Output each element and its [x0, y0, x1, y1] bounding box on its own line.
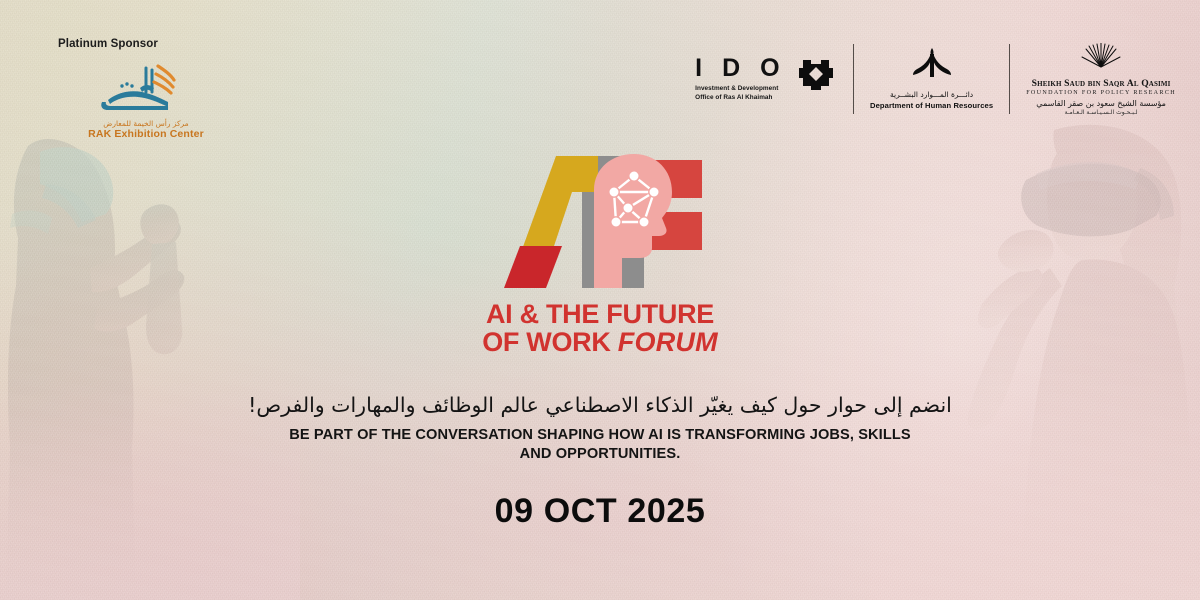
sponsor-english-name: RAK Exhibition Center — [56, 128, 236, 140]
poster-center-content: AI & THE FUTURE OF WORK FORUM انضم إلى ح… — [0, 148, 1200, 531]
tagline-arabic: انضم إلى حوار حول كيف يغيّر الذكاء الاصط… — [248, 393, 952, 417]
wordmark-forum: FORUM — [618, 327, 718, 357]
ido-wordmark: I D O — [695, 56, 786, 81]
tagline-english: BE PART OF THE CONVERSATION SHAPING HOW … — [280, 426, 920, 464]
qasimi-subtitle: FOUNDATION FOR POLICY RESEARCH — [1026, 90, 1176, 96]
starburst-icon — [1081, 43, 1121, 74]
qasimi-arabic-name: مؤسسة الشيخ سعود بن صقر القاسمي — [1036, 99, 1166, 108]
hr-english-name: Department of Human Resources — [870, 101, 993, 110]
sponsor-arabic-name: مركز رأس الخيمة للمعارض — [56, 119, 236, 128]
event-date: 09 OCT 2025 — [495, 492, 706, 531]
platinum-sponsor-label: Platinum Sponsor — [58, 38, 236, 50]
ai-future-of-work-monogram-icon — [494, 148, 706, 288]
event-poster: Platinum Sponsor — [0, 0, 1200, 600]
platinum-sponsor-block: Platinum Sponsor — [56, 38, 236, 140]
logo-divider-1 — [853, 44, 854, 114]
partner-logo-strip: I D O Investment & Development Office of… — [695, 40, 1176, 118]
logo-divider-2 — [1009, 44, 1010, 114]
qasimi-arabic-subtitle: لـبـحـوث الـسـيـاسـة الـعـامـة — [1065, 109, 1138, 116]
hr-arabic-name: دائـــرة المـــوارد البشــرية — [890, 90, 973, 99]
qasimi-name: Sheikh Saud bin Saqr Al Qasimi — [1032, 78, 1171, 89]
wordmark-line-2: OF WORK FORUM — [482, 329, 718, 357]
palm-frond-icon — [910, 48, 954, 83]
forum-wordmark: AI & THE FUTURE OF WORK FORUM — [482, 301, 718, 357]
ido-subtitle-line1: Investment & Development — [695, 85, 778, 94]
partner-logo-human-resources: دائـــرة المـــوارد البشــرية Department… — [870, 48, 993, 110]
partner-logo-al-qasimi-foundation: Sheikh Saud bin Saqr Al Qasimi FOUNDATIO… — [1026, 43, 1176, 116]
rak-exhibition-center-logo-icon: مركز رأس الخيمة للمعارض RAK Exhibition C… — [56, 62, 236, 140]
ido-subtitle-line2: Office of Ras Al Khaimah — [695, 94, 778, 103]
ido-octagon-icon — [795, 56, 837, 103]
wordmark-line-1: AI & THE FUTURE — [482, 301, 718, 329]
partner-logo-ido: I D O Investment & Development Office of… — [695, 56, 837, 103]
wordmark-line-2-main: OF WORK — [482, 327, 618, 357]
